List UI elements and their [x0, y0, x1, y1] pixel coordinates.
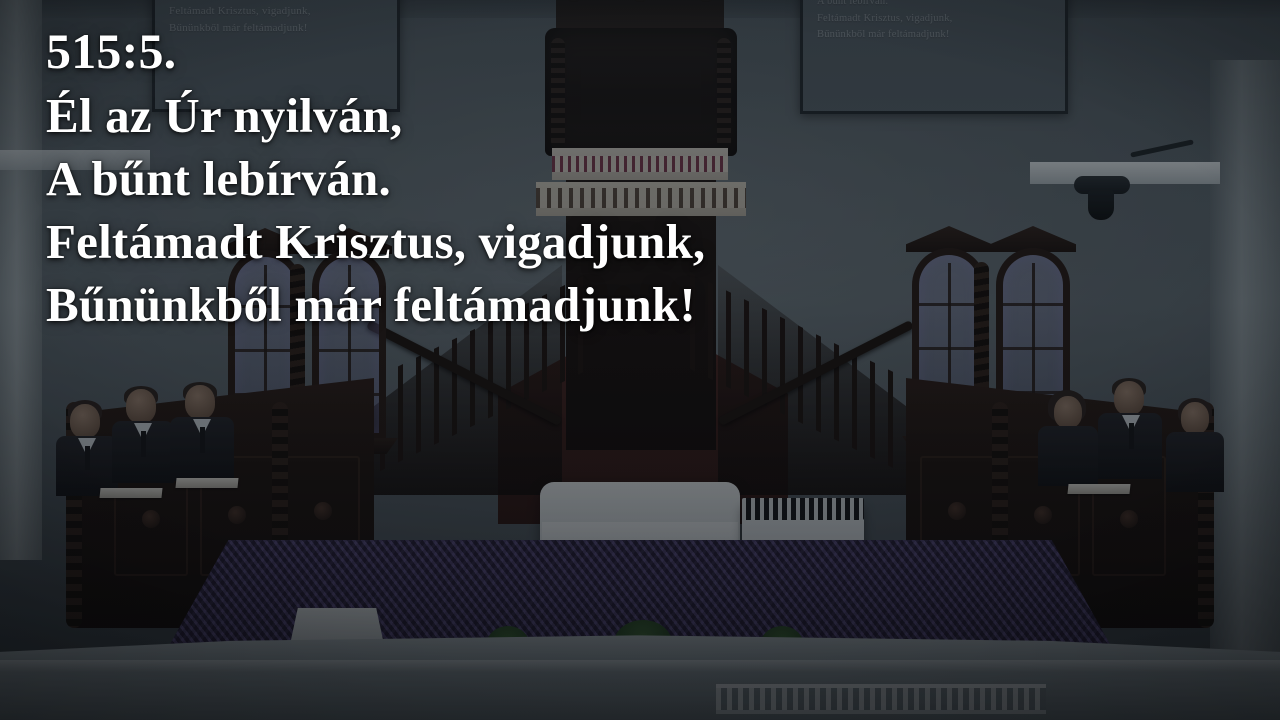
pew-knob — [1120, 510, 1138, 528]
head — [126, 389, 156, 423]
church-interior-scene: Él az Úr nyilván, A bűnt lebírván. Feltá… — [0, 0, 1280, 720]
torso — [1166, 432, 1224, 492]
pew-knob — [1034, 506, 1052, 524]
necktie — [141, 431, 146, 457]
balustrade-front — [716, 684, 1046, 714]
congregant-left-2 — [112, 386, 174, 482]
congregant-right-2 — [1098, 378, 1162, 478]
congregant-right-1 — [1038, 390, 1098, 484]
screen-left-line-3: Feltámadt Krisztus, vigadjunk, — [169, 3, 387, 20]
left-pilaster — [0, 0, 42, 560]
necktie — [200, 427, 205, 453]
canopy-finial-center — [632, 0, 648, 2]
hymnal — [1067, 484, 1130, 494]
video-frame: Él az Úr nyilván, A bűnt lebírván. Feltá… — [0, 0, 1280, 720]
head — [1181, 402, 1209, 434]
platform-edge — [0, 660, 1280, 672]
head — [1114, 381, 1144, 415]
projector-lens-icon — [1088, 190, 1114, 220]
pulpit-embroidered-cloth — [552, 156, 728, 172]
pew-knob — [142, 510, 160, 528]
necktie — [85, 446, 90, 470]
right-projection-screen: 515:5. Él az Úr nyilván, A bűnt lebírván… — [800, 0, 1068, 114]
congregant-left-3 — [170, 382, 234, 480]
pulpit-apron-embroidery — [536, 188, 746, 208]
torso — [1038, 426, 1098, 486]
pew-knob — [314, 502, 332, 520]
window-mullion-horizontal — [1003, 303, 1063, 306]
left-projection-screen: Él az Úr nyilván, A bűnt lebírván. Feltá… — [152, 0, 400, 112]
hymnal — [175, 478, 238, 488]
canopy-finial-right — [698, 0, 714, 2]
congregant-left-1 — [56, 400, 118, 492]
hymnal — [99, 488, 162, 498]
left-wall-ledge — [0, 150, 150, 170]
window-mullion-horizontal — [919, 347, 979, 350]
pulpit-sounding-board — [545, 28, 737, 156]
head — [1054, 396, 1082, 428]
window-mullion-horizontal — [319, 305, 379, 308]
window-mullion-horizontal — [319, 349, 379, 352]
screen-left-line-4: Bűnünkből már feltámadjunk! — [169, 20, 387, 37]
congregant-right-3 — [1166, 398, 1224, 490]
pew-knob — [228, 506, 246, 524]
communion-cups — [742, 498, 864, 520]
canopy-finial-left — [566, 0, 582, 2]
window-mullion-horizontal — [919, 303, 979, 306]
window-mullion-horizontal — [1003, 347, 1063, 350]
right-pilaster — [1210, 60, 1280, 660]
screen-right-line-2: A bűnt lebírván. — [817, 0, 1055, 11]
necktie — [1129, 423, 1134, 449]
screen-right-line-3: Feltámadt Krisztus, vigadjunk, — [817, 11, 1055, 28]
head — [70, 404, 100, 438]
window-mullion-horizontal — [235, 349, 295, 352]
window-mullion-horizontal — [235, 305, 295, 308]
head — [185, 385, 215, 419]
screen-right-line-4: Bűnünkből már feltámadjunk! — [817, 27, 1055, 44]
pew-knob — [948, 502, 966, 520]
